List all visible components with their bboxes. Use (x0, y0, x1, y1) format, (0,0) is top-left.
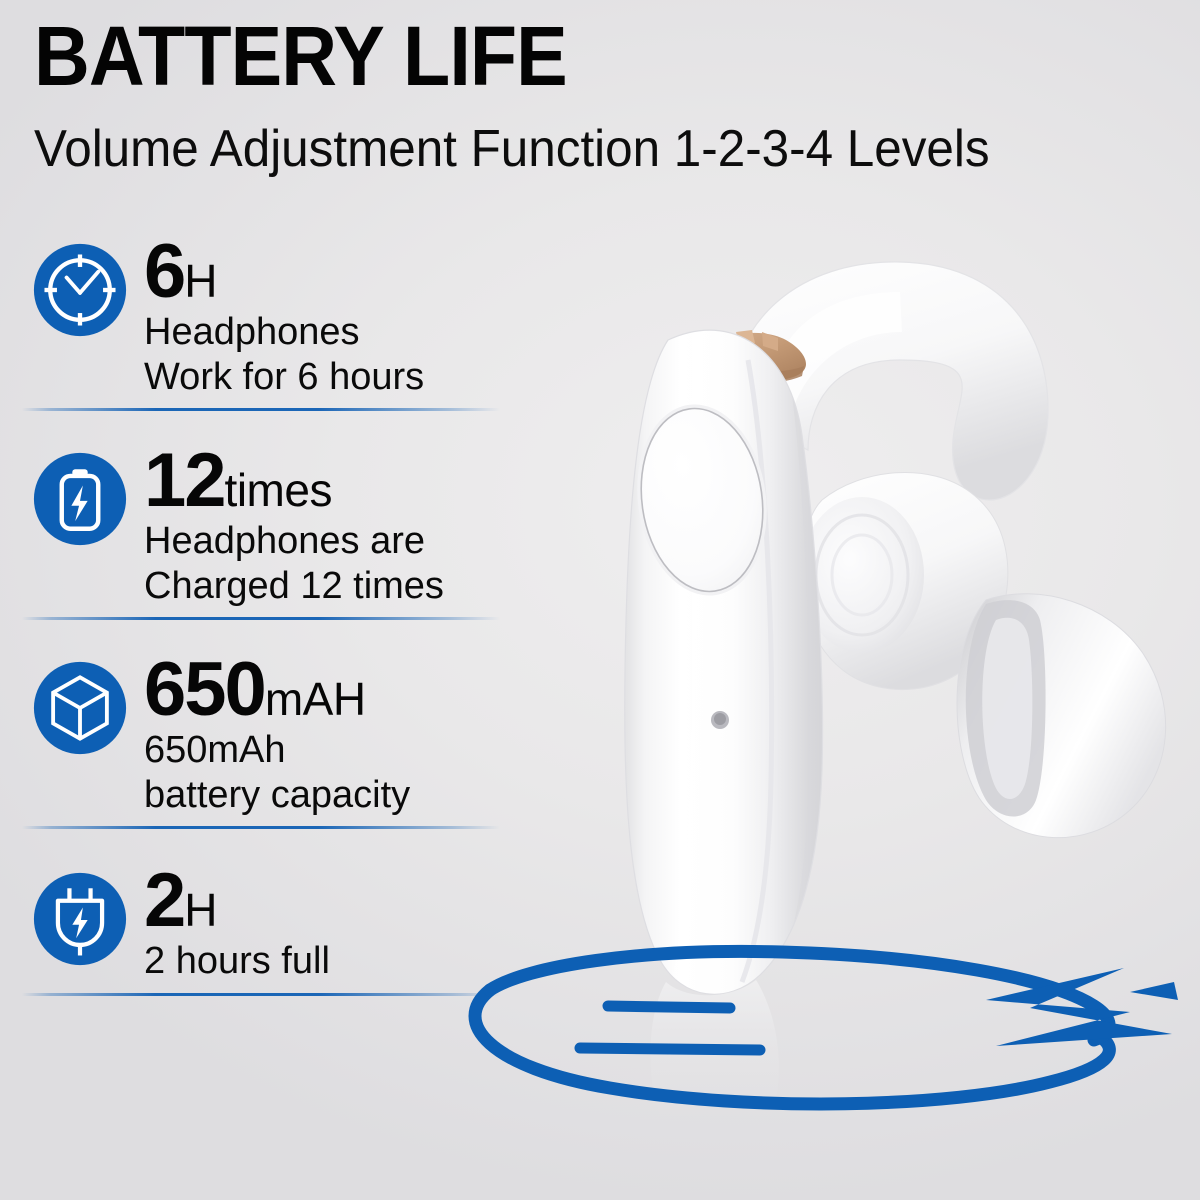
feature-unit: mAH (265, 673, 366, 725)
feature-desc-line1: Headphones are (144, 520, 444, 563)
cube-icon (32, 660, 128, 756)
feature-value: 12 (144, 438, 225, 523)
product-image (430, 200, 1200, 1120)
feature-text: 2H 2 hours full (144, 865, 330, 983)
feature-headline: 12times (144, 445, 444, 518)
battery-charging-icon (32, 451, 128, 547)
feature-headline: 2H (144, 865, 330, 938)
page-title: BATTERY LIFE (34, 14, 1083, 100)
blue-ellipse-swoosh (475, 951, 1109, 1103)
feature-separator (22, 826, 500, 829)
feature-headline: 650mAH (144, 654, 410, 727)
feature-desc-line2: battery capacity (144, 774, 410, 817)
feature-unit: H (184, 884, 217, 936)
feature-separator (22, 993, 500, 996)
feature-text: 650mAH 650mAh battery capacity (144, 654, 410, 816)
feature-desc-line1: 2 hours full (144, 940, 330, 983)
feature-text: 12times Headphones are Charged 12 times (144, 445, 444, 607)
feature-desc-line1: Headphones (144, 311, 424, 354)
feature-separator (22, 408, 500, 411)
feature-desc-line2: Charged 12 times (144, 565, 444, 608)
power-plug-icon (32, 871, 128, 967)
clock-icon (32, 242, 128, 338)
feature-separator (22, 617, 500, 620)
page-subtitle: Volume Adjustment Function 1-2-3-4 Level… (34, 122, 1117, 177)
feature-desc-line2: Work for 6 hours (144, 356, 424, 399)
feature-unit: times (225, 464, 332, 516)
feature-value: 6 (144, 229, 184, 314)
feature-text: 6H Headphones Work for 6 hours (144, 236, 424, 398)
feature-desc-line1: 650mAh (144, 729, 410, 772)
feature-value: 650 (144, 647, 265, 732)
header: BATTERY LIFE Volume Adjustment Function … (34, 14, 1174, 176)
feature-unit: H (184, 255, 217, 307)
feature-headline: 6H (144, 236, 424, 309)
feature-value: 2 (144, 858, 184, 943)
infographic-poster: BATTERY LIFE Volume Adjustment Function … (0, 0, 1200, 1200)
